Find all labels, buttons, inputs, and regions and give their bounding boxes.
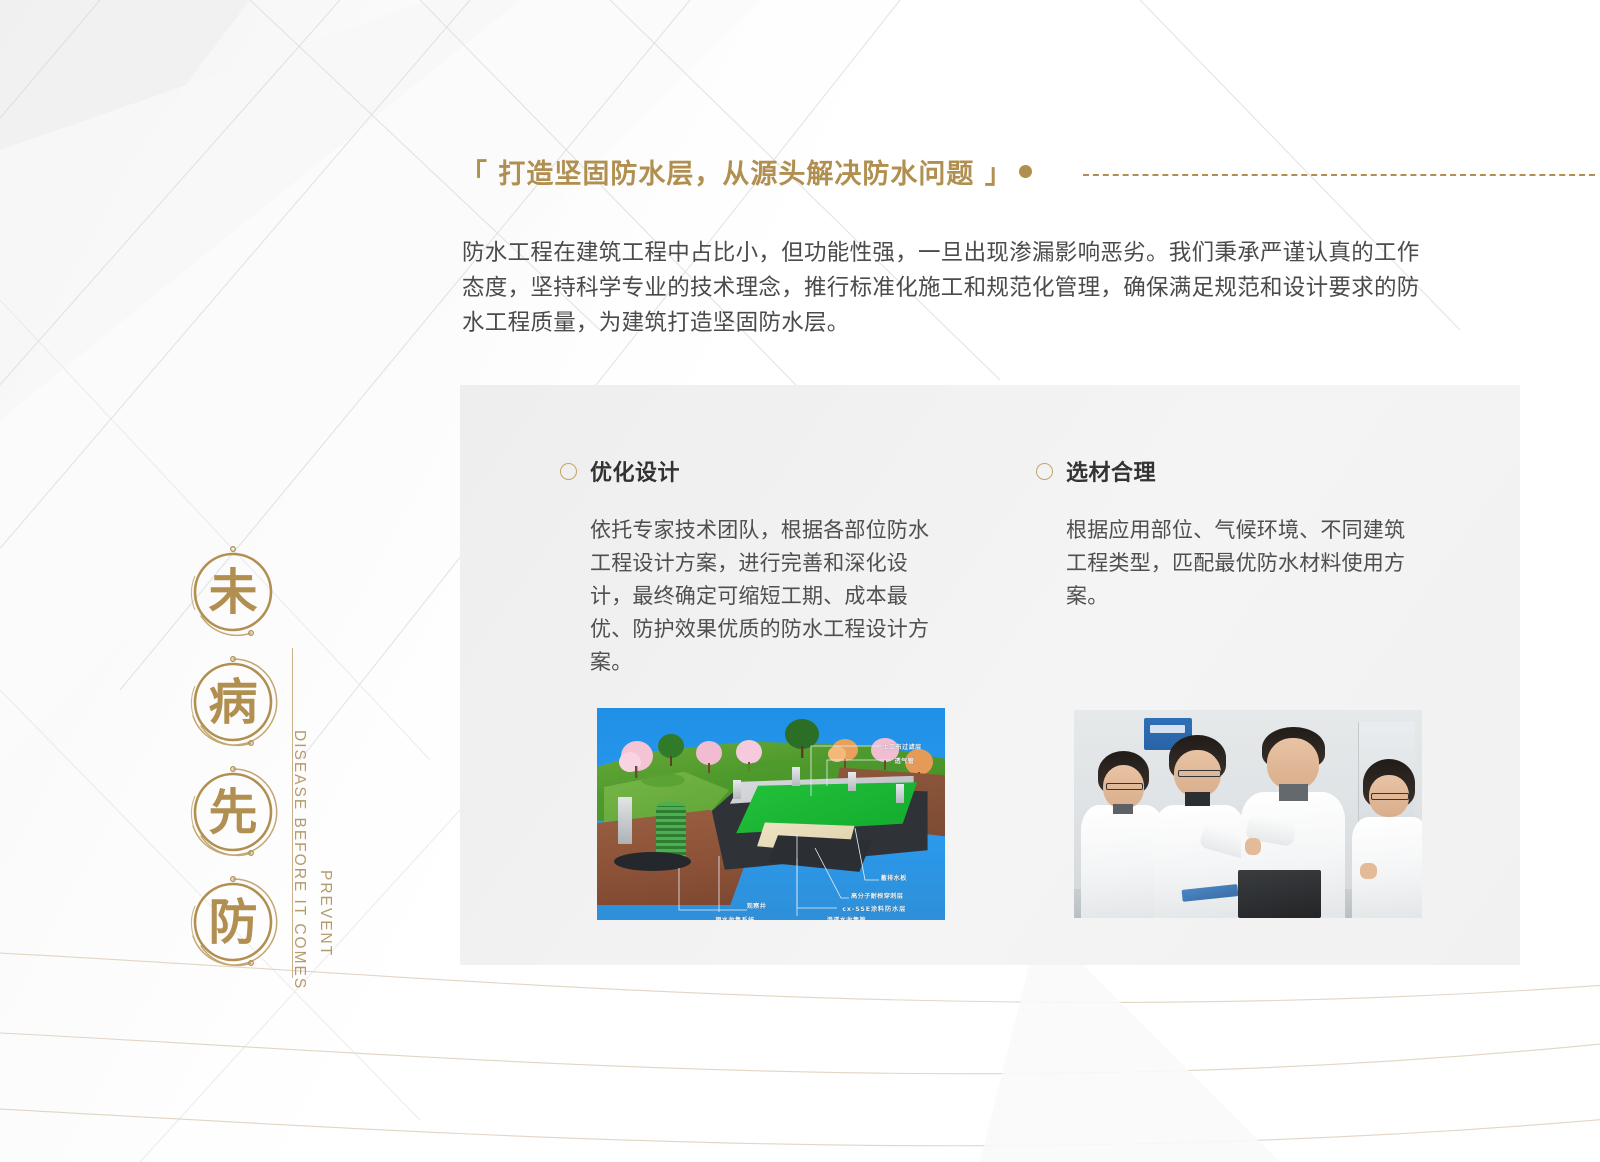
feature-body-1: 依托专家技术团队，根据各部位防水工程设计方案，进行完善和深化设计，最终确定可缩短… — [590, 514, 942, 679]
photo-person-4 — [1352, 756, 1422, 918]
emblem-ring-3: 先 — [181, 760, 285, 864]
photo-hand — [1245, 838, 1261, 855]
diagram-label-5: cx-SSE涂料防水层 — [842, 904, 906, 913]
diagram-label-8: 观察井 — [747, 901, 767, 910]
photo-illustration — [1074, 710, 1422, 918]
feature-heading-1: 优化设计 — [560, 455, 960, 487]
emblem-char-3: 先 — [181, 760, 285, 864]
emblem-ring-1: 未 — [181, 540, 285, 644]
diagram-illustration: 土工布过滤层 透气管 蓄排水板 高分子耐根穿刺层 cx-SSE涂料防水层 渗透水… — [597, 708, 945, 920]
emblem-char-1: 未 — [181, 540, 285, 644]
title-dot-icon — [1019, 165, 1032, 178]
feature-body-2: 根据应用部位、气候环境、不同建筑工程类型，匹配最优防水材料使用方案。 — [1066, 514, 1418, 613]
diagram-leader-lines — [597, 708, 945, 920]
diagram-label-1: 土工布过滤层 — [882, 742, 921, 751]
photo-person-1 — [1081, 747, 1165, 918]
emblem-ring-4: 防 — [181, 870, 285, 974]
page-title: 「 打造坚固防水层，从源头解决防水问题 」 — [460, 152, 1032, 191]
title-dashed-rule — [1083, 174, 1595, 176]
slide-canvas: 「 打造坚固防水层，从源头解决防水问题 」 防水工程在建筑工程中占比小，但功能性… — [0, 0, 1600, 1162]
photo-eyeglasses-icon — [1371, 793, 1410, 800]
lab-team-photo — [1074, 710, 1422, 918]
photo-collar — [1185, 792, 1210, 807]
page-title-text: 「 打造坚固防水层，从源头解决防水问题 」 — [460, 152, 1013, 191]
diagram-label-3: 蓄排水板 — [881, 873, 907, 882]
waterproofing-diagram-image: 土工布过滤层 透气管 蓄排水板 高分子耐根穿刺层 cx-SSE涂料防水层 渗透水… — [597, 708, 945, 920]
photo-lab-coat — [1154, 805, 1244, 918]
tagline-vertical-main: DISEASE BEFORE IT COMES — [290, 730, 308, 990]
feature-column-2: 选材合理 根据应用部位、气候环境、不同建筑工程类型，匹配最优防水材料使用方案。 — [1036, 455, 1436, 613]
photo-collar — [1279, 784, 1308, 801]
photo-head — [1267, 738, 1319, 790]
tagline-vertical-sub: PREVENT — [316, 870, 334, 957]
feature-column-1: 优化设计 依托专家技术团队，根据各部位防水工程设计方案，进行完善和深化设计，最终… — [560, 455, 960, 679]
intro-paragraph: 防水工程在建筑工程中占比小，但功能性强，一旦出现渗漏影响恶劣。我们秉承严谨认真的… — [462, 236, 1442, 341]
circle-bullet-icon — [1036, 463, 1053, 480]
emblem-char-2: 病 — [181, 650, 285, 754]
diagram-label-4: 高分子耐根穿刺层 — [851, 891, 903, 900]
photo-black-sample-box — [1238, 870, 1322, 918]
emblem-char-4: 防 — [181, 870, 285, 974]
feature-title-2: 选材合理 — [1066, 455, 1156, 487]
feature-heading-2: 选材合理 — [1036, 455, 1436, 487]
circle-bullet-icon — [560, 463, 577, 480]
photo-eyeglasses-icon — [1106, 783, 1143, 790]
diagram-label-7: 雨水收集系统 — [715, 915, 754, 920]
diagram-label-2: 透气管 — [895, 756, 915, 765]
emblem-ring-2: 病 — [181, 650, 285, 754]
photo-collar — [1113, 804, 1133, 814]
photo-lab-coat — [1081, 805, 1165, 918]
diagram-label-6: 渗透水收集管 — [827, 915, 866, 920]
photo-hand — [1360, 863, 1377, 879]
feature-title-1: 优化设计 — [590, 455, 680, 487]
photo-eyeglasses-icon — [1178, 770, 1222, 777]
